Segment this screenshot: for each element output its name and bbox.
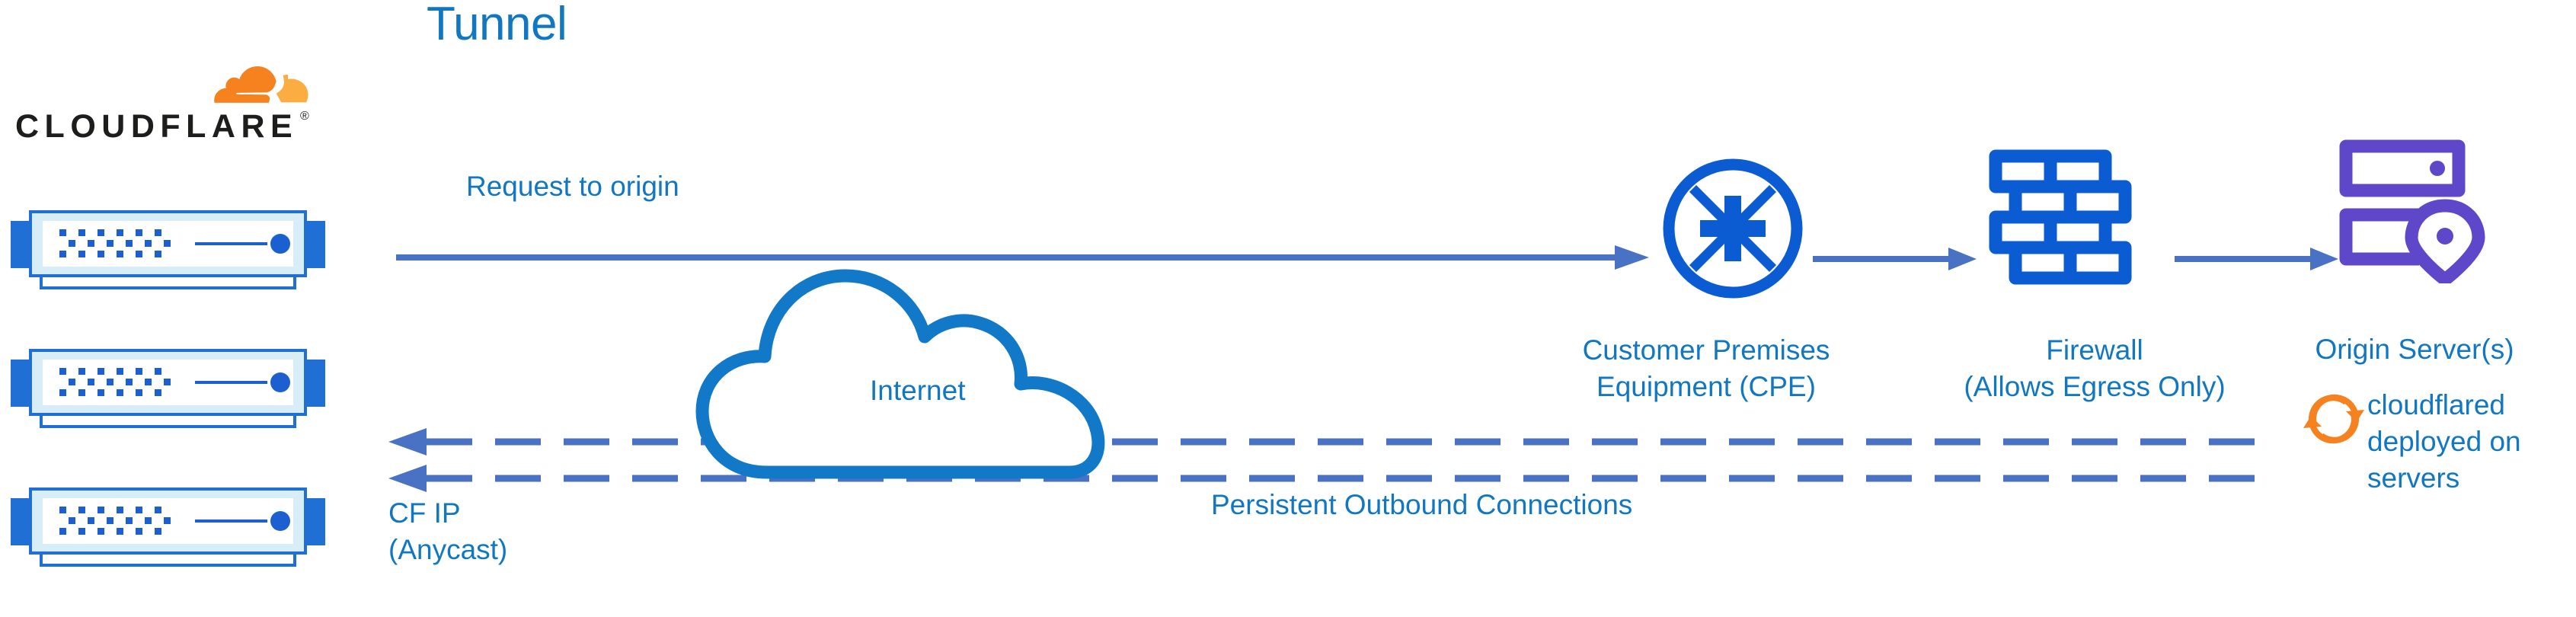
cloudflared-annotation-label: cloudflared deployed on servers [2367,387,2542,497]
cloudflared-line-1: cloudflared [2367,387,2542,424]
origin-server-label: Origin Server(s) [2255,332,2574,367]
cf-ip-line-2: (Anycast) [388,532,507,568]
refresh-cycle-icon [2302,387,2366,451]
cpe-label-line-1: Customer Premises [1539,332,1874,369]
firewall-label-line-2: (Allows Egress Only) [1897,369,2293,405]
brick-wall-icon [1988,149,2133,301]
firewall-label-line-1: Firewall [1897,332,2293,369]
firewall-label: Firewall (Allows Egress Only) [1897,332,2293,405]
connectors-layer [0,0,2576,617]
four-arrows-circle-icon [1657,152,1809,305]
cpe-label: Customer Premises Equipment (CPE) [1539,332,1874,405]
cf-ip-label: CF IP (Anycast) [388,495,507,568]
server-rack-pin-icon [2338,139,2491,283]
internet-label: Internet [870,373,965,408]
cpe-to-firewall-arrow [1813,244,1980,274]
cloudflared-line-2: deployed on [2367,424,2542,460]
persistent-connection-line-upper [388,428,2255,456]
cpe-label-line-2: Equipment (CPE) [1539,369,1874,405]
persistent-outbound-connections-label: Persistent Outbound Connections [1211,488,1632,523]
firewall-to-origin-arrow [2175,244,2342,274]
cf-ip-line-1: CF IP [388,495,507,532]
cloudflared-line-3: servers [2367,460,2542,497]
request-to-origin-label: Request to origin [466,169,679,204]
cloud-outline-icon [695,229,1182,488]
diagram-canvas: Tunnel CLOUDFLARE ® [0,0,2576,617]
